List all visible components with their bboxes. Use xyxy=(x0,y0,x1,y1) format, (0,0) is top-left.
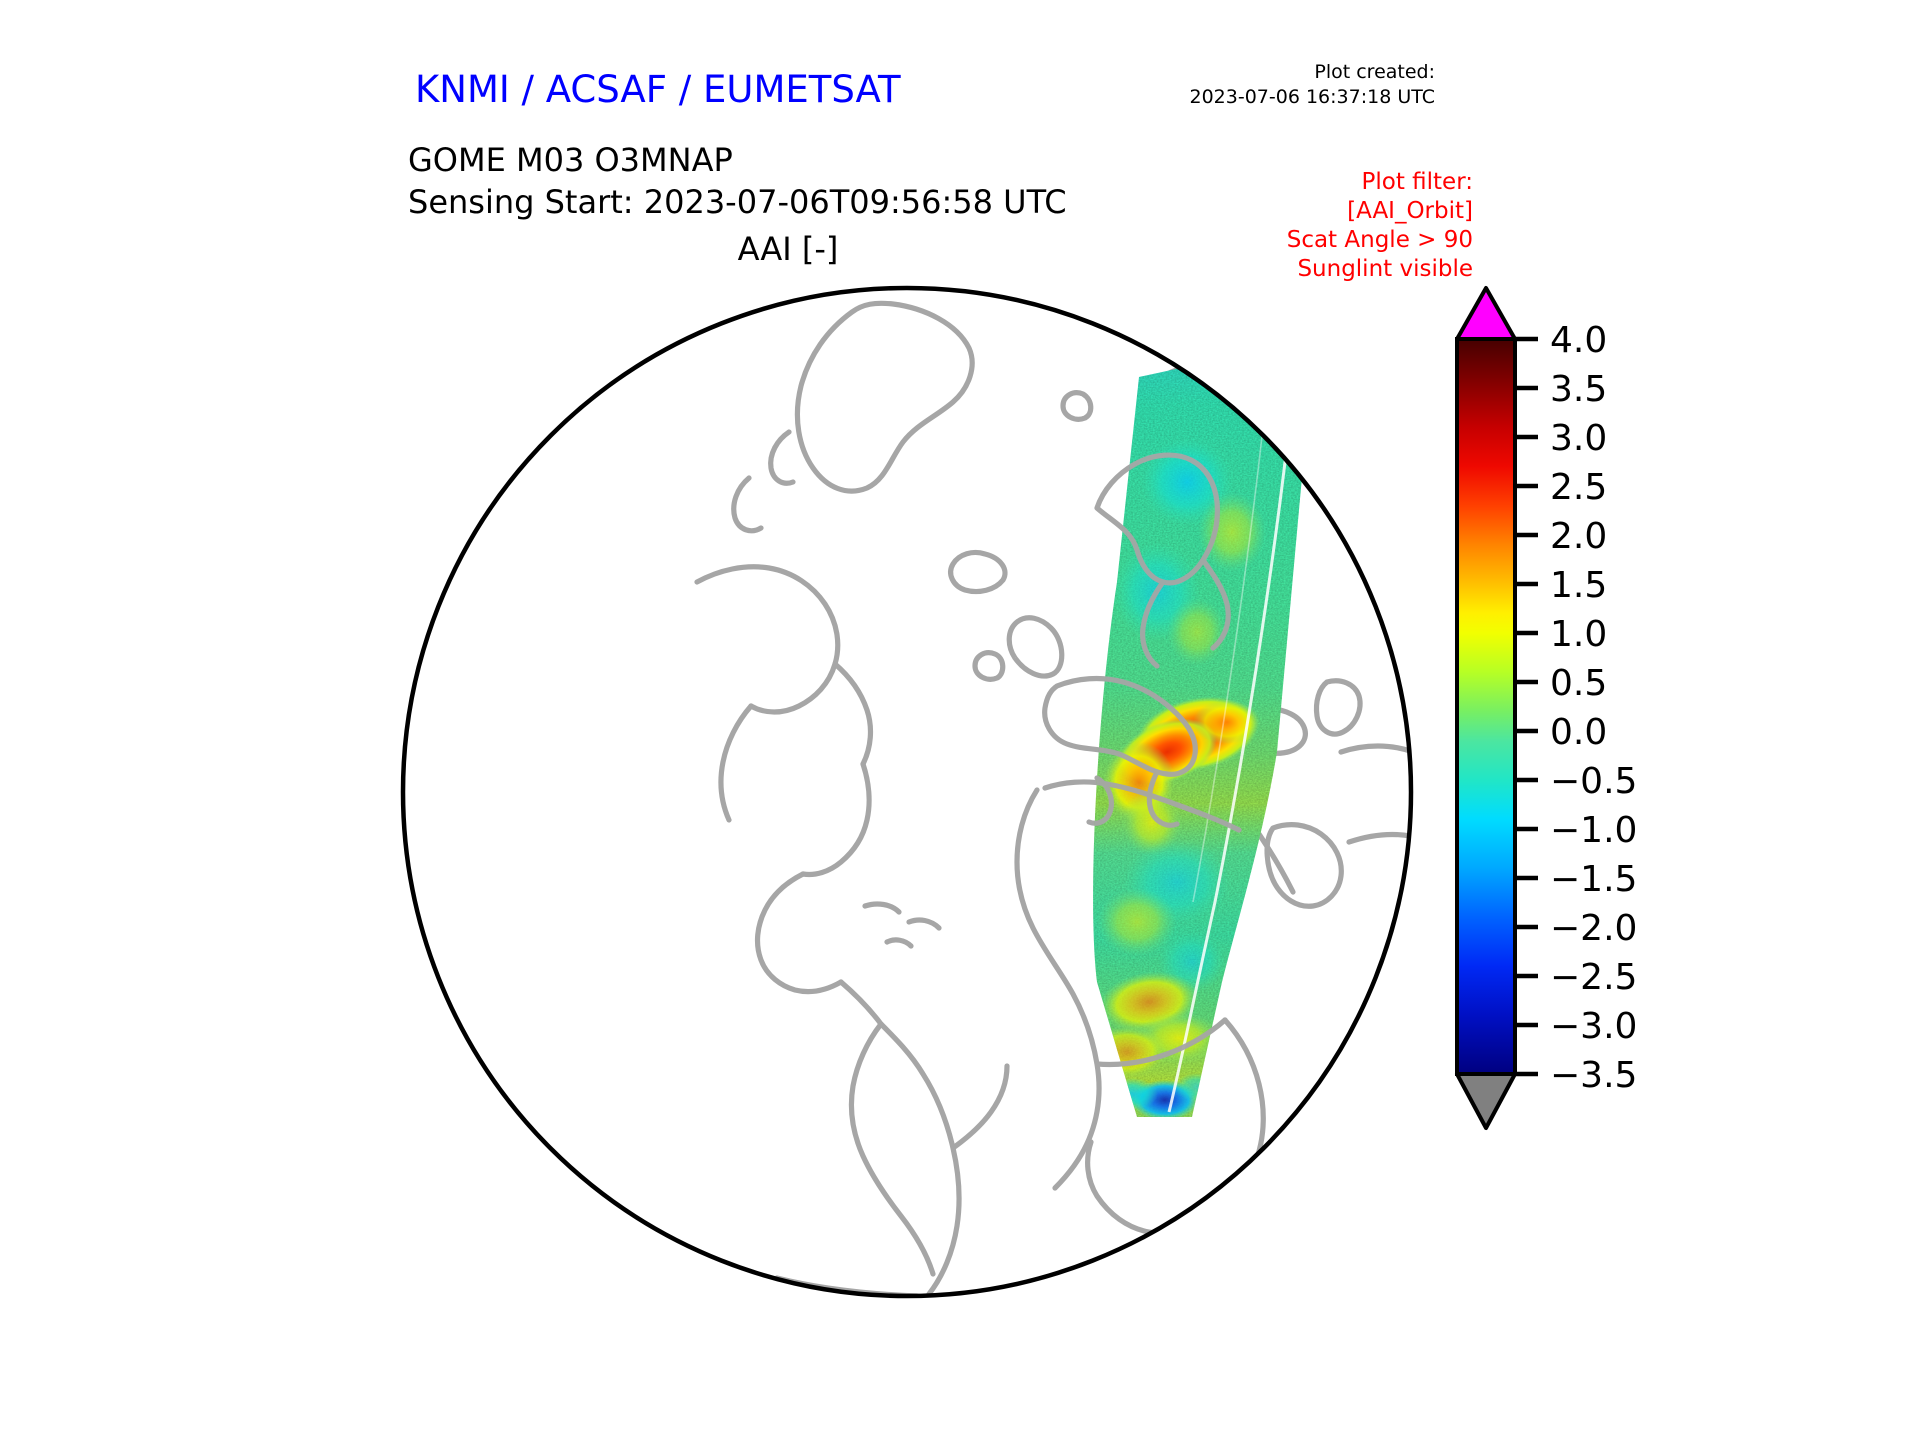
globe-map xyxy=(397,282,1417,1302)
plot-filter-block: Plot filter: [AAI_Orbit] Scat Angle > 90… xyxy=(1287,168,1473,284)
plot-filter-label: Plot filter: xyxy=(1287,168,1473,197)
colorbar-tick-label: 3.0 xyxy=(1550,418,1607,459)
colorbar-tick-label: −1.0 xyxy=(1550,810,1637,851)
plot-created-value: 2023-07-06 16:37:18 UTC xyxy=(1190,85,1436,110)
colorbar-tick-label: 0.0 xyxy=(1550,712,1607,753)
colorbar-tick-label: 2.5 xyxy=(1550,467,1607,508)
product-title-block: GOME M03 O3MNAP Sensing Start: 2023-07-0… xyxy=(408,140,1067,223)
colorbar-tick-label: −2.0 xyxy=(1550,908,1637,949)
colorbar-tick-label: 3.5 xyxy=(1550,369,1607,410)
plot-filter-line-1: [AAI_Orbit] xyxy=(1287,197,1473,226)
plot-created-label: Plot created: xyxy=(1190,60,1436,85)
instrument-title: GOME M03 O3MNAP xyxy=(408,140,1067,182)
colorbar-tick-label: 0.5 xyxy=(1550,663,1607,704)
colorbar-tick-label: −1.5 xyxy=(1550,859,1637,900)
colorbar-tick-label: 2.0 xyxy=(1550,516,1607,557)
colorbar-tick-label: −0.5 xyxy=(1550,761,1637,802)
colorbar-tick-label: 1.0 xyxy=(1550,614,1607,655)
colorbar: 4.0 3.5 3.0 2.5 2.0 1.5 1.0 0.5 0.0 −0.5… xyxy=(1440,282,1700,1312)
colorbar-gradient xyxy=(1457,339,1515,1074)
plot-canvas: KNMI / ACSAF / EUMETSAT Plot created: 20… xyxy=(0,0,1920,1440)
colorbar-tick-labels: 4.0 3.5 3.0 2.5 2.0 1.5 1.0 0.5 0.0 −0.5… xyxy=(1550,320,1637,1096)
colorbar-over-arrow xyxy=(1457,288,1515,339)
colorbar-tick-label: −2.5 xyxy=(1550,957,1637,998)
colorbar-tick-label: −3.0 xyxy=(1550,1006,1637,1047)
colorbar-tick-label: 1.5 xyxy=(1550,565,1607,606)
sensing-start-title: Sensing Start: 2023-07-06T09:56:58 UTC xyxy=(408,182,1067,224)
colorbar-tick-label: 4.0 xyxy=(1550,320,1607,361)
colorbar-ticks xyxy=(1515,339,1538,1074)
colorbar-tick-label: −3.5 xyxy=(1550,1055,1637,1096)
organisation-header: KNMI / ACSAF / EUMETSAT xyxy=(415,68,901,111)
plot-created-block: Plot created: 2023-07-06 16:37:18 UTC xyxy=(1190,60,1436,109)
colorbar-under-arrow xyxy=(1457,1074,1515,1128)
plot-filter-line-3: Sunglint visible xyxy=(1287,255,1473,284)
plot-filter-line-2: Scat Angle > 90 xyxy=(1287,226,1473,255)
quantity-title: AAI [-] xyxy=(408,230,1168,268)
